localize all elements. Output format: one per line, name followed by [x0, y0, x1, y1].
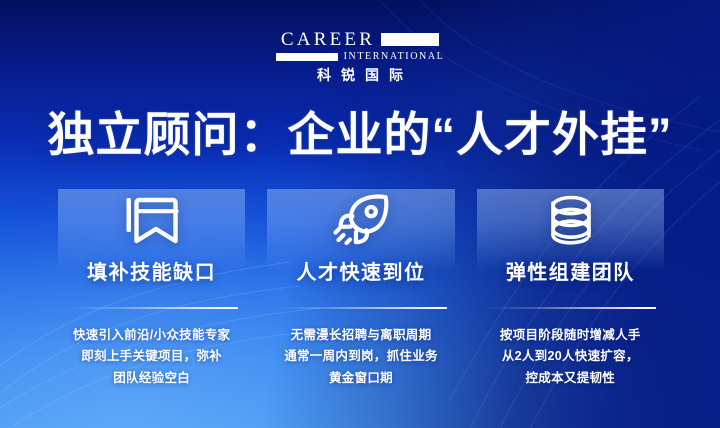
card-body: 快速引入前沿/小众技能专家 即刻上手关键项目，弥补 团队经验空白 — [73, 325, 230, 390]
page-title: 独立顾问：企业的“人才外挂” — [0, 96, 720, 165]
card-body-line: 无需漫长招聘与离职周期 — [284, 325, 438, 347]
card-title: 人才快速到位 — [296, 256, 425, 285]
spring-coil-icon — [541, 189, 599, 251]
logo-block-right — [381, 33, 439, 46]
card-title: 弹性组建团队 — [506, 256, 635, 285]
card-body-line: 黄金窗口期 — [284, 368, 438, 390]
card-body-line: 控成本又提韧性 — [500, 368, 641, 390]
card-divider — [66, 307, 238, 309]
card-divider — [275, 307, 447, 309]
logo-secondary-row: INTERNATIONAL — [276, 52, 445, 62]
logo-word-career: CAREER — [281, 30, 375, 49]
card-title: 填补技能缺口 — [87, 256, 216, 285]
card-body: 按项目阶段随时增减人手 从2人到20人快速扩容， 控成本又提韧性 — [500, 325, 641, 390]
feature-card[interactable]: 人才快速到位 无需漫长招聘与离职周期 通常一周内到岗，抓住业务 黄金窗口期 — [267, 189, 454, 389]
card-body-line: 通常一周内到岗，抓住业务 — [284, 346, 438, 368]
feature-card[interactable]: 弹性组建团队 按项目阶段随时增减人手 从2人到20人快速扩容， 控成本又提韧性 — [477, 189, 664, 389]
brand-logo: CAREER INTERNATIONAL 科锐国际 — [0, 30, 720, 82]
card-body-line: 团队经验空白 — [73, 368, 230, 390]
rocket-icon — [332, 189, 390, 251]
card-body-line: 快速引入前沿/小众技能专家 — [73, 325, 230, 347]
logo-chinese-name: 科锐国际 — [307, 68, 413, 82]
card-body-line: 从2人到20人快速扩容， — [500, 346, 641, 368]
logo-block-left — [276, 53, 338, 61]
card-divider — [484, 307, 656, 309]
feature-card-list: 填补技能缺口 快速引入前沿/小众技能专家 即刻上手关键项目，弥补 团队经验空白 — [58, 189, 664, 389]
logo-word-international: INTERNATIONAL — [344, 52, 445, 62]
bookmark-icon — [124, 189, 180, 251]
logo-primary-row: CAREER — [281, 30, 439, 49]
feature-card[interactable]: 填补技能缺口 快速引入前沿/小众技能专家 即刻上手关键项目，弥补 团队经验空白 — [58, 189, 245, 389]
card-body-line: 按项目阶段随时增减人手 — [500, 325, 641, 347]
card-body: 无需漫长招聘与离职周期 通常一周内到岗，抓住业务 黄金窗口期 — [284, 325, 438, 390]
poster-canvas: CAREER INTERNATIONAL 科锐国际 独立顾问：企业的“人才外挂”… — [0, 0, 720, 428]
card-body-line: 即刻上手关键项目，弥补 — [73, 346, 230, 368]
